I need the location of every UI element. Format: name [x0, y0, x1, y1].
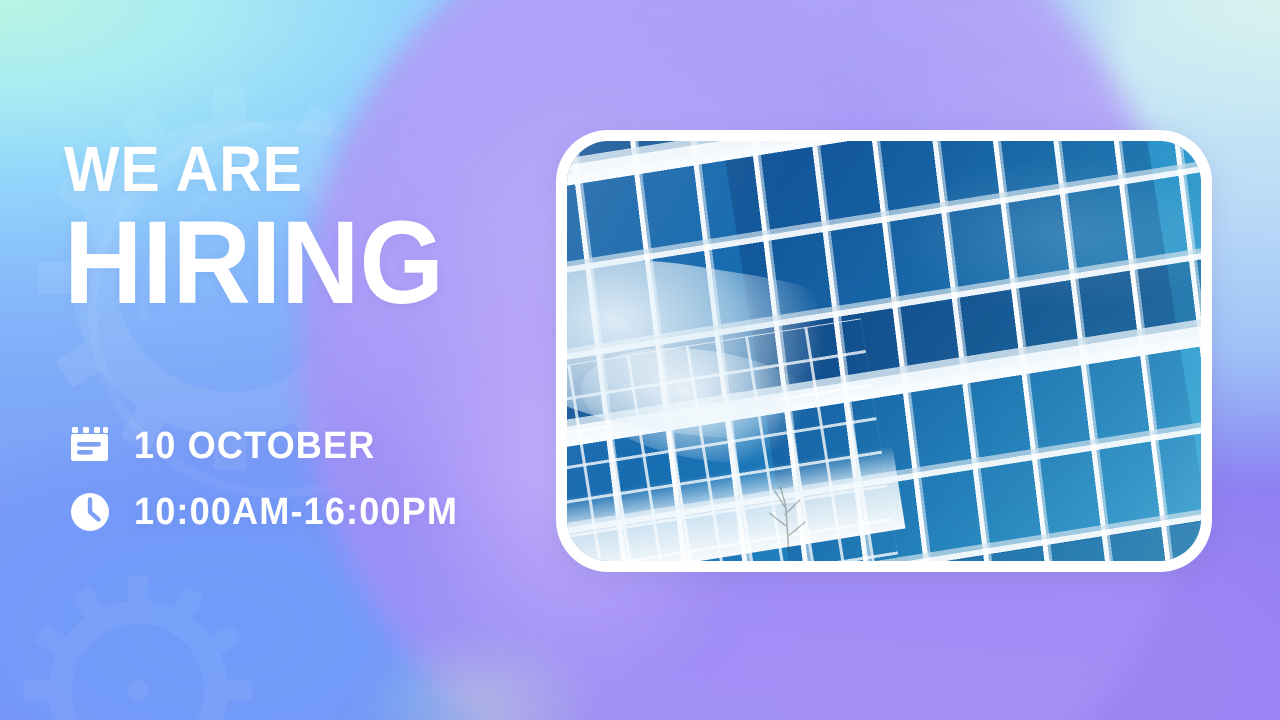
event-detail-time: 10:00AM-16:00PM [68, 490, 475, 534]
calendar-icon [68, 424, 112, 468]
headline-line-2: HIRING [64, 209, 444, 318]
event-date-label: 10 OCTOBER [134, 425, 375, 468]
hiring-poster: WE ARE HIRING 10 OCTOBER [0, 0, 1280, 720]
event-time-label: 10:00AM-16:00PM [134, 491, 458, 534]
blob-bottom-glow [330, 590, 630, 720]
event-details-list: 10 OCTOBER 10:00AM-16:00PM [68, 424, 475, 534]
glass-office-building-photo [567, 141, 1201, 561]
headline-block: WE ARE HIRING [64, 140, 477, 317]
clock-icon [68, 490, 112, 534]
headline-line-1: WE ARE [64, 140, 444, 199]
event-detail-date: 10 OCTOBER [68, 424, 475, 468]
photo-card-frame [556, 130, 1212, 572]
